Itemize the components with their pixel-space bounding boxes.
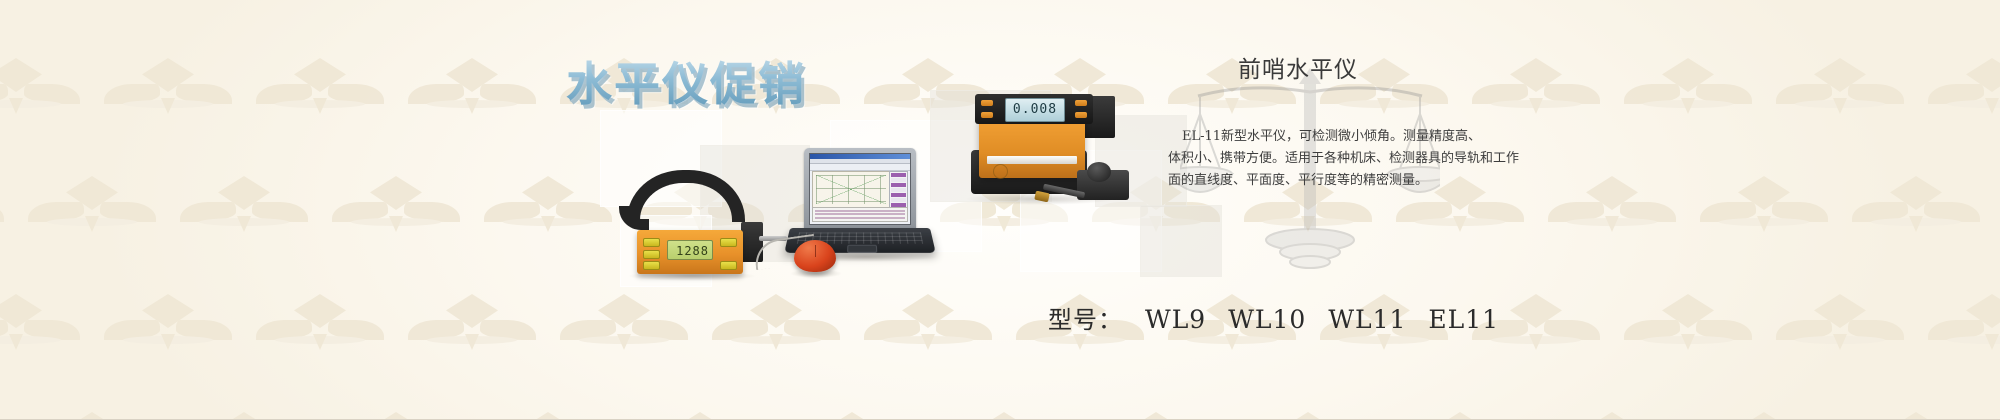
product-description: EL-11新型水平仪，可检测微小倾角。测量精度高、 体积小、携带方便。适用于各种… bbox=[1168, 126, 1458, 192]
handheld-level-hook bbox=[619, 206, 649, 230]
product-brand-heading: 前哨水平仪 bbox=[1238, 50, 1358, 84]
software-tool-bar bbox=[810, 164, 910, 171]
software-data-row bbox=[891, 188, 906, 192]
model-item-wl9: WL9 bbox=[1145, 305, 1206, 334]
mouse-button-split bbox=[815, 245, 816, 257]
description-line-2: 体积小、携带方便。适用于各种机床、检测器具的导轨和工作 bbox=[1168, 148, 1458, 170]
handheld-level-button-1 bbox=[643, 238, 660, 247]
frame-level-knob bbox=[1087, 162, 1111, 182]
software-data-row bbox=[891, 173, 906, 177]
software-chart-area bbox=[812, 171, 890, 208]
model-item-wl10: WL10 bbox=[1228, 305, 1306, 334]
mouse-body bbox=[794, 240, 836, 272]
frame-level-button-1 bbox=[981, 100, 993, 106]
model-item-wl11: WL11 bbox=[1328, 305, 1406, 334]
frame-level-button-3 bbox=[1075, 100, 1087, 106]
laptop-touchpad bbox=[847, 245, 877, 253]
software-status-pane bbox=[812, 207, 908, 222]
software-status-line bbox=[815, 210, 905, 212]
software-status-line bbox=[815, 213, 905, 215]
page-title: 水平仪促销 bbox=[566, 48, 806, 114]
frame-level-slot bbox=[987, 156, 1077, 164]
handheld-level-button-3 bbox=[643, 261, 660, 270]
description-line-3: 面的直线度、平面度、平行度等的精密测量。 bbox=[1168, 170, 1458, 192]
handheld-level-button-2 bbox=[643, 250, 660, 259]
model-number-list: 型号：WL9WL10WL11EL11 bbox=[1048, 300, 1499, 335]
laptop-screen bbox=[809, 153, 911, 225]
description-line-1: EL-11新型水平仪，可检测微小倾角。测量精度高、 bbox=[1168, 126, 1458, 148]
software-data-row bbox=[891, 178, 906, 182]
product-promo-banner: 水平仪促销 前哨水平仪 EL-11新型水平仪，可检测微小倾角。测量精度高、 体积… bbox=[0, 0, 2000, 420]
frame-level-logo bbox=[993, 164, 1008, 179]
frame-level-button-4 bbox=[1075, 112, 1087, 118]
software-data-row bbox=[891, 183, 906, 187]
software-data-row bbox=[891, 198, 906, 202]
software-status-line bbox=[815, 217, 905, 219]
software-chart-diagonals bbox=[816, 175, 886, 204]
product-image-mouse bbox=[790, 236, 842, 276]
handheld-level-body: 1288 bbox=[637, 230, 743, 274]
model-item-el11: EL11 bbox=[1428, 305, 1499, 334]
handheld-level-lcd-display: 1288 bbox=[667, 240, 713, 260]
laptop-lid bbox=[804, 148, 916, 230]
frame-level-button-2 bbox=[981, 112, 993, 118]
software-data-table bbox=[889, 171, 908, 208]
model-label: 型号： bbox=[1048, 306, 1123, 334]
frame-level-control-panel: 0.008 bbox=[975, 94, 1093, 124]
product-image-frame-level: 0.008 bbox=[965, 88, 1125, 213]
product-image-handheld-level: 1288 bbox=[615, 170, 775, 280]
software-data-row bbox=[891, 193, 906, 197]
frame-level-lcd-display: 0.008 bbox=[1005, 98, 1065, 122]
frame-level-body bbox=[979, 116, 1085, 178]
handheld-level-button-5 bbox=[720, 261, 737, 270]
handheld-level-button-4 bbox=[720, 238, 737, 247]
